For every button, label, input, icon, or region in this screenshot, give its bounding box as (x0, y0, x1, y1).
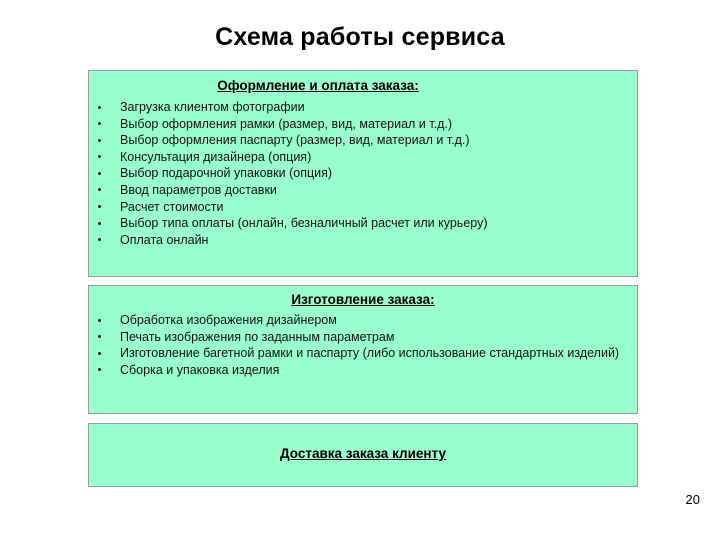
list-item-label: Загрузка клиентом фотографии (120, 100, 305, 114)
list-item-label: Изготовление багетной рамки и паспарту (… (120, 346, 619, 360)
process-stage-making: Изготовление заказа: Обработка изображен… (88, 285, 638, 414)
bullet-dot-icon (98, 122, 101, 125)
slide: Схема работы сервиса Оформление и оплата… (0, 0, 720, 540)
bullet-dot-icon (98, 222, 101, 225)
bullet-dot-icon (98, 238, 101, 241)
stage-list-order: Загрузка клиентом фотографии Выбор оформ… (89, 99, 637, 248)
bullet-dot-icon (98, 319, 101, 322)
bullet-dot-icon (98, 352, 101, 355)
list-item-label: Сборка и упаковка изделия (120, 363, 279, 377)
list-item: Загрузка клиентом фотографии (89, 99, 637, 116)
bullet-dot-icon (98, 155, 101, 158)
stage-list-making: Обработка изображения дизайнером Печать … (89, 312, 637, 378)
list-item: Расчет стоимости (89, 199, 637, 216)
list-item: Выбор типа оплаты (онлайн, безналичный р… (89, 215, 637, 232)
bullet-dot-icon (98, 172, 101, 175)
page-number: 20 (686, 492, 700, 508)
list-item-label: Выбор оформления рамки (размер, вид, мат… (120, 117, 452, 131)
bullet-dot-icon (98, 368, 101, 371)
stage-heading-delivery: Доставка заказа клиенту (89, 445, 637, 463)
list-item-label: Консультация дизайнера (опция) (120, 150, 311, 164)
bullet-dot-icon (98, 335, 101, 338)
stage-heading-order: Оформление и оплата заказа: (89, 77, 637, 95)
page-title: Схема работы сервиса (0, 22, 720, 52)
list-item-label: Расчет стоимости (120, 200, 224, 214)
stage-heading-making: Изготовление заказа: (89, 291, 637, 309)
bullet-dot-icon (98, 106, 101, 109)
list-item: Изготовление багетной рамки и паспарту (… (89, 345, 637, 362)
list-item: Консультация дизайнера (опция) (89, 149, 637, 166)
list-item-label: Печать изображения по заданным параметра… (120, 330, 394, 344)
list-item: Сборка и упаковка изделия (89, 362, 637, 379)
list-item-label: Обработка изображения дизайнером (120, 313, 337, 327)
bullet-dot-icon (98, 205, 101, 208)
bullet-dot-icon (98, 139, 101, 142)
list-item: Выбор подарочной упаковки (опция) (89, 165, 637, 182)
list-item: Печать изображения по заданным параметра… (89, 329, 637, 346)
bullet-dot-icon (98, 188, 101, 191)
list-item-label: Выбор типа оплаты (онлайн, безналичный р… (120, 216, 488, 230)
list-item-label: Выбор подарочной упаковки (опция) (120, 166, 332, 180)
list-item: Оплата онлайн (89, 232, 637, 249)
process-stage-delivery: Доставка заказа клиенту (88, 423, 638, 487)
list-item: Выбор оформления паспарту (размер, вид, … (89, 132, 637, 149)
list-item-label: Ввод параметров доставки (120, 183, 277, 197)
list-item: Выбор оформления рамки (размер, вид, мат… (89, 116, 637, 133)
list-item-label: Оплата онлайн (120, 233, 208, 247)
list-item-label: Выбор оформления паспарту (размер, вид, … (120, 133, 470, 147)
process-stage-order: Оформление и оплата заказа: Загрузка кли… (88, 70, 638, 277)
list-item: Обработка изображения дизайнером (89, 312, 637, 329)
list-item: Ввод параметров доставки (89, 182, 637, 199)
